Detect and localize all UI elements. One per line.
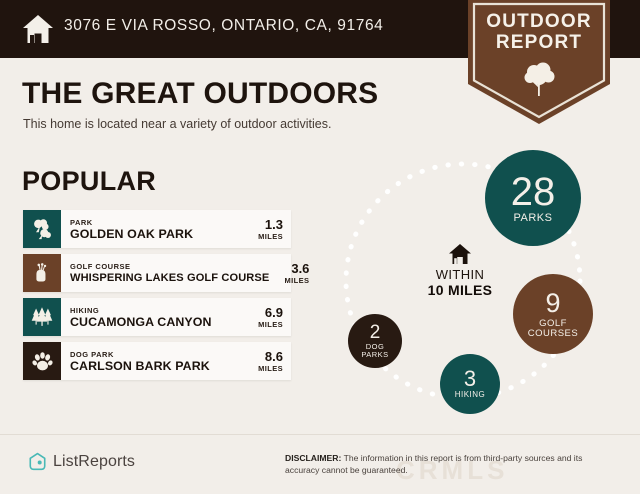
radius-line-1: WITHIN xyxy=(414,268,506,282)
paw-print-icon xyxy=(23,342,61,380)
outdoor-report-badge: OUTDOOR REPORT xyxy=(468,0,610,124)
list-item-distance-value: 3.6 xyxy=(269,262,309,276)
list-item-text: DOG PARK CARLSON BARK PARK xyxy=(61,342,243,380)
list-item-distance-value: 8.6 xyxy=(243,350,283,364)
list-item-name: CUCAMONGA CANYON xyxy=(70,315,243,329)
bubble-dog-parks[interactable]: 2 DOG PARKS xyxy=(348,314,402,368)
list-item-distance: 1.3 MILES xyxy=(243,210,291,248)
list-item-text: PARK GOLDEN OAK PARK xyxy=(61,210,243,248)
badge-line-1: OUTDOOR xyxy=(468,11,610,32)
list-item-distance-unit: MILES xyxy=(243,364,283,373)
bubble-parks-count: 28 xyxy=(511,172,556,212)
bubble-hiking-count: 3 xyxy=(464,368,476,390)
bubble-golf-label-line-2: COURSES xyxy=(528,329,578,339)
list-item-category: HIKING xyxy=(70,306,243,315)
list-item[interactable]: HIKING CUCAMONGA CANYON 6.9 MILES xyxy=(23,298,291,336)
popular-list: PARK GOLDEN OAK PARK 1.3 MILES xyxy=(23,210,291,386)
pine-trees-icon xyxy=(23,298,61,336)
bubble-parks-label: PARKS xyxy=(514,213,553,225)
outdoor-report-page: 3076 E VIA ROSSO, ONTARIO, CA, 91764 OUT… xyxy=(0,0,640,494)
list-item-distance: 3.6 MILES xyxy=(269,254,317,292)
home-icon xyxy=(448,243,472,265)
radius-center-label: WITHIN 10 MILES xyxy=(414,243,506,298)
list-item[interactable]: GOLF COURSE WHISPERING LAKES GOLF COURSE… xyxy=(23,254,291,292)
home-icon xyxy=(22,14,54,44)
list-item-name: CARLSON BARK PARK xyxy=(70,359,243,373)
badge-title: OUTDOOR REPORT xyxy=(468,11,610,53)
list-item-distance-unit: MILES xyxy=(243,320,283,329)
list-item-distance-unit: MILES xyxy=(243,232,283,241)
bubble-dog-count: 2 xyxy=(370,323,381,342)
list-item-distance-value: 6.9 xyxy=(243,306,283,320)
park-tree-icon xyxy=(23,210,61,248)
list-item-category: DOG PARK xyxy=(70,350,243,359)
page-title: THE GREAT OUTDOORS xyxy=(22,77,378,111)
list-item-category: PARK xyxy=(70,218,243,227)
bubble-golf-courses[interactable]: 9 GOLF COURSES xyxy=(513,274,593,354)
page-subtitle: This home is located near a variety of o… xyxy=(23,117,331,131)
golf-bag-icon xyxy=(23,254,61,292)
list-item[interactable]: PARK GOLDEN OAK PARK 1.3 MILES xyxy=(23,210,291,248)
bubble-hiking[interactable]: 3 HIKING xyxy=(440,354,500,414)
disclaimer-label: DISCLAIMER: xyxy=(285,453,341,463)
list-item-name: GOLDEN OAK PARK xyxy=(70,227,243,241)
list-item-text: HIKING CUCAMONGA CANYON xyxy=(61,298,243,336)
badge-line-2: REPORT xyxy=(468,32,610,53)
bubble-golf-count: 9 xyxy=(545,290,560,317)
list-item-name: WHISPERING LAKES GOLF COURSE xyxy=(70,271,269,285)
listreports-logo-text: ListReports xyxy=(53,453,135,471)
footer-divider xyxy=(0,434,640,435)
bubble-dog-label-line-2: PARKS xyxy=(361,351,388,359)
disclaimer: DISCLAIMER: The information in this repo… xyxy=(285,453,615,476)
property-address: 3076 E VIA ROSSO, ONTARIO, CA, 91764 xyxy=(64,17,383,35)
radius-line-2: 10 MILES xyxy=(414,282,506,298)
bubble-golf-label-line-1: GOLF xyxy=(539,319,567,329)
listreports-house-icon xyxy=(28,452,47,471)
amenities-bubble-chart: 28 PARKS 9 GOLF COURSES 3 HIKING 2 DOG P… xyxy=(330,148,630,418)
list-item-category: GOLF COURSE xyxy=(70,262,269,271)
list-item-distance-value: 1.3 xyxy=(243,218,283,232)
list-item-distance: 8.6 MILES xyxy=(243,342,291,380)
tree-icon xyxy=(523,62,555,96)
list-item[interactable]: DOG PARK CARLSON BARK PARK 8.6 MILES xyxy=(23,342,291,380)
listreports-logo[interactable]: ListReports xyxy=(28,452,135,471)
popular-heading: POPULAR xyxy=(22,166,156,197)
list-item-distance-unit: MILES xyxy=(269,276,309,285)
list-item-text: GOLF COURSE WHISPERING LAKES GOLF COURSE xyxy=(61,254,269,292)
list-item-distance: 6.9 MILES xyxy=(243,298,291,336)
bubble-hiking-label: HIKING xyxy=(455,391,486,399)
bubble-parks[interactable]: 28 PARKS xyxy=(485,150,581,246)
